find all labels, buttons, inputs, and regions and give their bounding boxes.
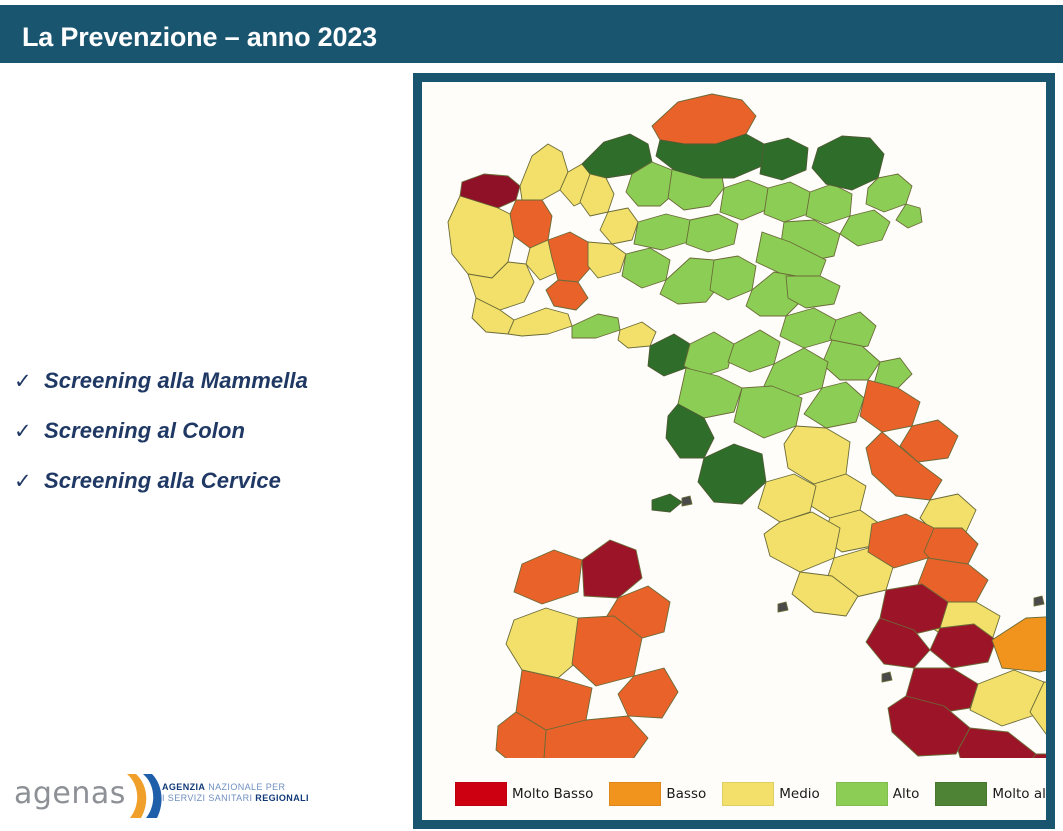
header-bar: La Prevenzione – anno 2023 xyxy=(0,5,1063,63)
logo-tagline-regionali: REGIONALI xyxy=(255,793,309,803)
bullet-label-mammella: Screening alla Mammella xyxy=(44,368,308,394)
legend-item-basso[interactable]: Basso xyxy=(609,782,722,806)
region-toscana-pistoia[interactable] xyxy=(728,330,780,372)
logo-wordmark: agenas xyxy=(14,776,126,811)
legend-swatch-alto xyxy=(836,782,888,806)
region-islet-capri[interactable] xyxy=(882,672,892,682)
logo-tagline-line1: AGENZIA NAZIONALE PER xyxy=(162,782,309,793)
region-friuli-udine[interactable] xyxy=(812,136,884,190)
legend-item-alto[interactable]: Alto xyxy=(836,782,936,806)
agenas-logo: agenas AGENZIA NAZIONALE PER I SERVIZI S… xyxy=(14,770,314,822)
list-item: ✓ Screening alla Mammella xyxy=(14,368,404,394)
region-puglia-foggia[interactable] xyxy=(992,616,1046,672)
legend-item-molto-basso[interactable]: Molto Basso xyxy=(455,782,609,806)
legend-label-medio: Medio xyxy=(779,786,820,802)
region-toscana-massa[interactable] xyxy=(648,334,690,376)
region-alessandria-sud[interactable] xyxy=(546,280,588,310)
region-alessandria[interactable] xyxy=(548,232,592,282)
legend-swatch-medio xyxy=(722,782,774,806)
map-legend: Molto Basso Basso Medio Alto Molto alto xyxy=(455,782,1046,806)
region-piemonte-nord[interactable] xyxy=(520,144,568,200)
region-islet-tremiti[interactable] xyxy=(1034,596,1044,606)
region-genova[interactable] xyxy=(572,314,620,338)
region-friuli-trieste[interactable] xyxy=(896,204,922,228)
region-emilia-forli[interactable] xyxy=(822,340,880,380)
region-lombardia-mantova[interactable] xyxy=(686,214,738,252)
map-canvas[interactable]: Molto Basso Basso Medio Alto Molto alto xyxy=(422,82,1046,820)
bullet-list: ✓ Screening alla Mammella ✓ Screening al… xyxy=(14,368,404,518)
region-veneto-treviso[interactable] xyxy=(806,184,852,224)
italy-choropleth-map[interactable] xyxy=(422,82,1046,758)
list-item: ✓ Screening alla Cervice xyxy=(14,468,404,494)
region-islet-ponza[interactable] xyxy=(778,602,788,612)
logo-tagline-servizi: I SERVIZI SANITARI xyxy=(162,793,252,803)
legend-swatch-molto-alto xyxy=(935,782,987,806)
region-veneto-verona[interactable] xyxy=(720,180,768,220)
region-toscana-grosseto[interactable] xyxy=(698,444,766,504)
region-sardegna-oristano[interactable] xyxy=(506,608,586,678)
list-item: ✓ Screening al Colon xyxy=(14,418,404,444)
map-panel: Molto Basso Basso Medio Alto Molto alto xyxy=(413,73,1055,829)
region-veneto-vicenza[interactable] xyxy=(764,182,810,222)
legend-label-basso: Basso xyxy=(666,786,706,802)
legend-label-alto: Alto xyxy=(893,786,920,802)
region-basilicata-potenza[interactable] xyxy=(970,670,1044,726)
legend-item-molto-alto[interactable]: Molto alto xyxy=(935,782,1046,806)
legend-swatch-molto-basso xyxy=(455,782,507,806)
region-la-spezia[interactable] xyxy=(618,322,656,348)
check-icon: ✓ xyxy=(14,371,44,392)
region-liguria-savona[interactable] xyxy=(508,308,572,336)
logo-tagline-agenzia: AGENZIA xyxy=(162,782,205,792)
region-belluno[interactable] xyxy=(760,138,808,180)
check-icon: ✓ xyxy=(14,421,44,442)
logo-tagline-line2: I SERVIZI SANITARI REGIONALI xyxy=(162,793,309,804)
region-isola-elba[interactable] xyxy=(652,494,682,512)
logo-tagline: AGENZIA NAZIONALE PER I SERVIZI SANITARI… xyxy=(162,782,309,804)
region-islet-giglio[interactable] xyxy=(682,496,692,506)
legend-label-molto-basso: Molto Basso xyxy=(512,786,593,802)
legend-label-molto-alto: Molto alto xyxy=(992,786,1046,802)
region-lombardia-pavia[interactable] xyxy=(588,242,626,278)
region-emilia-piacenza[interactable] xyxy=(622,248,670,288)
bullet-label-cervice: Screening alla Cervice xyxy=(44,468,281,494)
agenas-swoosh-icon xyxy=(119,770,163,822)
region-emilia-reggio[interactable] xyxy=(710,256,756,300)
page-title: La Prevenzione – anno 2023 xyxy=(22,22,377,53)
region-lombardia-milano[interactable] xyxy=(600,208,638,244)
check-icon: ✓ xyxy=(14,471,44,492)
logo-tagline-nazionale: NAZIONALE PER xyxy=(208,782,285,792)
region-calabria-cosenza[interactable] xyxy=(958,728,1036,758)
legend-swatch-basso xyxy=(609,782,661,806)
legend-item-medio[interactable]: Medio xyxy=(722,782,836,806)
region-sardegna-gallura[interactable] xyxy=(582,540,642,598)
region-lazio-roma[interactable] xyxy=(764,512,840,572)
region-lombardia-cremona[interactable] xyxy=(634,214,690,250)
region-toscana-siena[interactable] xyxy=(734,386,802,438)
bullet-label-colon: Screening al Colon xyxy=(44,418,245,444)
region-marche-pesaro[interactable] xyxy=(860,380,920,432)
region-sardegna-sassari[interactable] xyxy=(514,550,582,604)
